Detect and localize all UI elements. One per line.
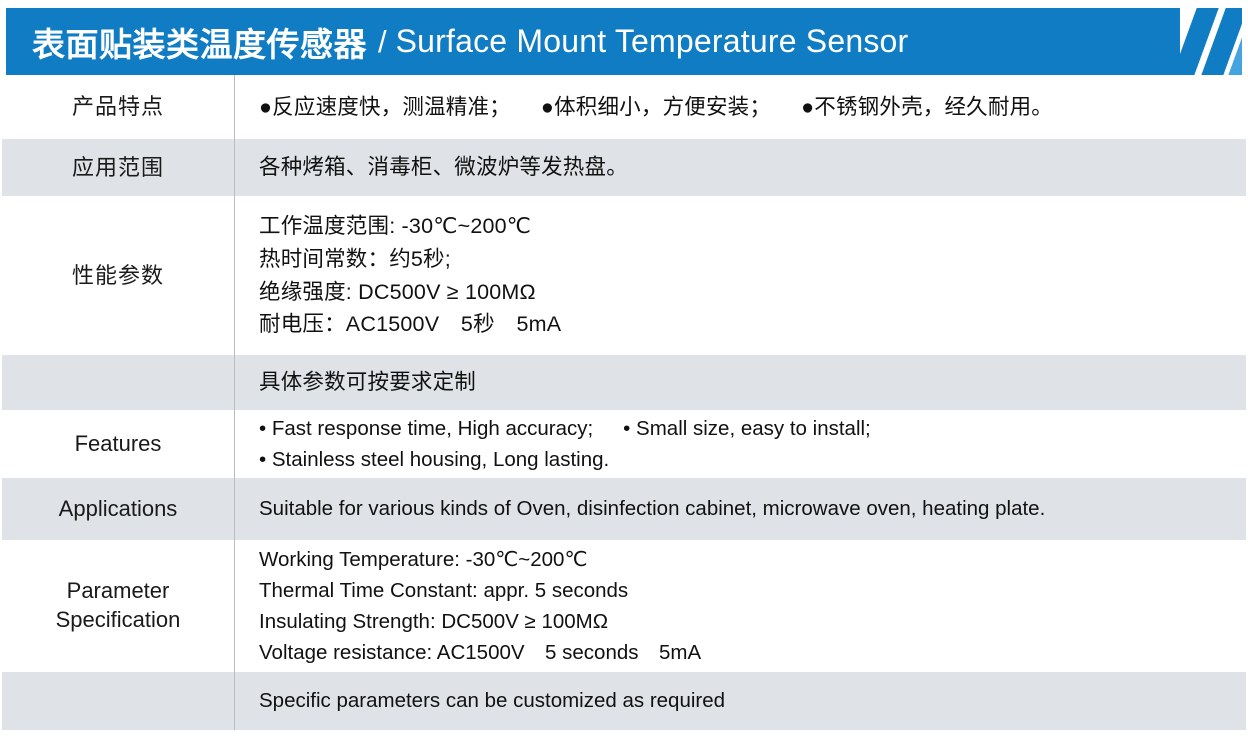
row-value-product-features: ●反应速度快，测温精准；●体积细小，方便安装；●不锈钢外壳，经久耐用。: [234, 75, 1246, 139]
row-label-applications: Applications: [2, 478, 234, 540]
table-row: Features • Fast response time, High accu…: [2, 410, 1246, 478]
row-label-text: Applications: [59, 495, 178, 524]
perf-line-insulating-strength: 绝缘强度: DC500V ≥ 100MΩ: [259, 276, 1246, 309]
header-banner: 表面贴装类温度传感器 / Surface Mount Temperature S…: [6, 8, 1242, 75]
row-label-empty-en-note: [2, 672, 234, 730]
feature-item-1: ●反应速度快，测温精准；: [259, 95, 511, 119]
row-value-custom-note-en: Specific parameters can be customized as…: [234, 672, 1246, 730]
row-label-text: Features: [75, 430, 162, 459]
row-label-parameter-specification: Parameter Specification: [2, 540, 234, 672]
applications-text: Suitable for various kinds of Oven, disi…: [259, 493, 1246, 524]
row-label-application-scope: 应用范围: [2, 139, 234, 196]
row-value-features: • Fast response time, High accuracy;• Sm…: [234, 410, 1246, 478]
table-row: 具体参数可按要求定制: [2, 355, 1246, 410]
row-label-text: 产品特点: [72, 92, 164, 122]
table-row: Parameter Specification Working Temperat…: [2, 540, 1246, 672]
table-row: Specific parameters can be customized as…: [2, 672, 1246, 730]
row-value-parameter-specification: Working Temperature: -30℃~200℃ Thermal T…: [234, 540, 1246, 672]
page-title-chinese: 表面贴装类温度传感器: [32, 18, 367, 66]
spec-line-working-temperature: Working Temperature: -30℃~200℃: [259, 544, 1246, 575]
row-label-performance-parameters: 性能参数: [2, 196, 234, 355]
features-item-1: • Fast response time, High accuracy;: [259, 417, 593, 440]
features-line-1: • Fast response time, High accuracy;• Sm…: [259, 413, 1246, 444]
perf-line-voltage-resistance: 耐电压：AC1500V 5秒 5mA: [259, 308, 1246, 341]
feature-line: ●反应速度快，测温精准；●体积细小，方便安装；●不锈钢外壳，经久耐用。: [259, 91, 1246, 124]
specification-table: 产品特点 ●反应速度快，测温精准；●体积细小，方便安装；●不锈钢外壳，经久耐用。…: [2, 75, 1246, 730]
row-label-text-line1: Parameter: [56, 577, 181, 606]
features-item-2: • Small size, easy to install;: [623, 417, 871, 440]
spec-line-thermal-time-constant: Thermal Time Constant: appr. 5 seconds: [259, 575, 1246, 606]
row-value-performance-parameters: 工作温度范围: -30℃~200℃ 热时间常数：约5秒; 绝缘强度: DC500…: [234, 196, 1246, 355]
row-label-text: 应用范围: [72, 153, 164, 183]
row-value-applications: Suitable for various kinds of Oven, disi…: [234, 478, 1246, 540]
product-spec-sheet: 表面贴装类温度传感器 / Surface Mount Temperature S…: [0, 0, 1248, 739]
custom-note-en-text: Specific parameters can be customized as…: [259, 685, 1246, 716]
page-title: 表面贴装类温度传感器 / Surface Mount Temperature S…: [32, 8, 908, 75]
row-value-application-scope: 各种烤箱、消毒柜、微波炉等发热盘。: [234, 139, 1246, 196]
table-row: 产品特点 ●反应速度快，测温精准；●体积细小，方便安装；●不锈钢外壳，经久耐用。: [2, 75, 1246, 139]
custom-note-cn-text: 具体参数可按要求定制: [259, 366, 1246, 399]
row-label-text-wrapper: Parameter Specification: [56, 577, 181, 634]
application-scope-text: 各种烤箱、消毒柜、微波炉等发热盘。: [259, 151, 1246, 184]
row-label-text-line2: Specification: [56, 606, 181, 635]
perf-line-thermal-time-constant: 热时间常数：约5秒;: [259, 243, 1246, 276]
row-label-empty-cn-note: [2, 355, 234, 410]
perf-line-working-temperature: 工作温度范围: -30℃~200℃: [259, 210, 1246, 243]
feature-item-2: ●体积细小，方便安装；: [541, 95, 771, 119]
table-row: 性能参数 工作温度范围: -30℃~200℃ 热时间常数：约5秒; 绝缘强度: …: [2, 196, 1246, 355]
page-title-separator: /: [367, 24, 396, 60]
table-row: 应用范围 各种烤箱、消毒柜、微波炉等发热盘。: [2, 139, 1246, 196]
spec-line-voltage-resistance: Voltage resistance: AC1500V 5 seconds 5m…: [259, 637, 1246, 668]
row-value-custom-note-cn: 具体参数可按要求定制: [234, 355, 1246, 410]
row-label-product-features: 产品特点: [2, 75, 234, 139]
feature-item-3: ●不锈钢外壳，经久耐用。: [801, 95, 1053, 119]
table-row: Applications Suitable for various kinds …: [2, 478, 1246, 540]
row-label-text: 性能参数: [72, 261, 164, 291]
page-title-english: Surface Mount Temperature Sensor: [396, 23, 909, 60]
spec-line-insulating-strength: Insulating Strength: DC500V ≥ 100MΩ: [259, 606, 1246, 637]
features-item-3: • Stainless steel housing, Long lasting.: [259, 444, 1246, 475]
row-label-features: Features: [2, 410, 234, 478]
